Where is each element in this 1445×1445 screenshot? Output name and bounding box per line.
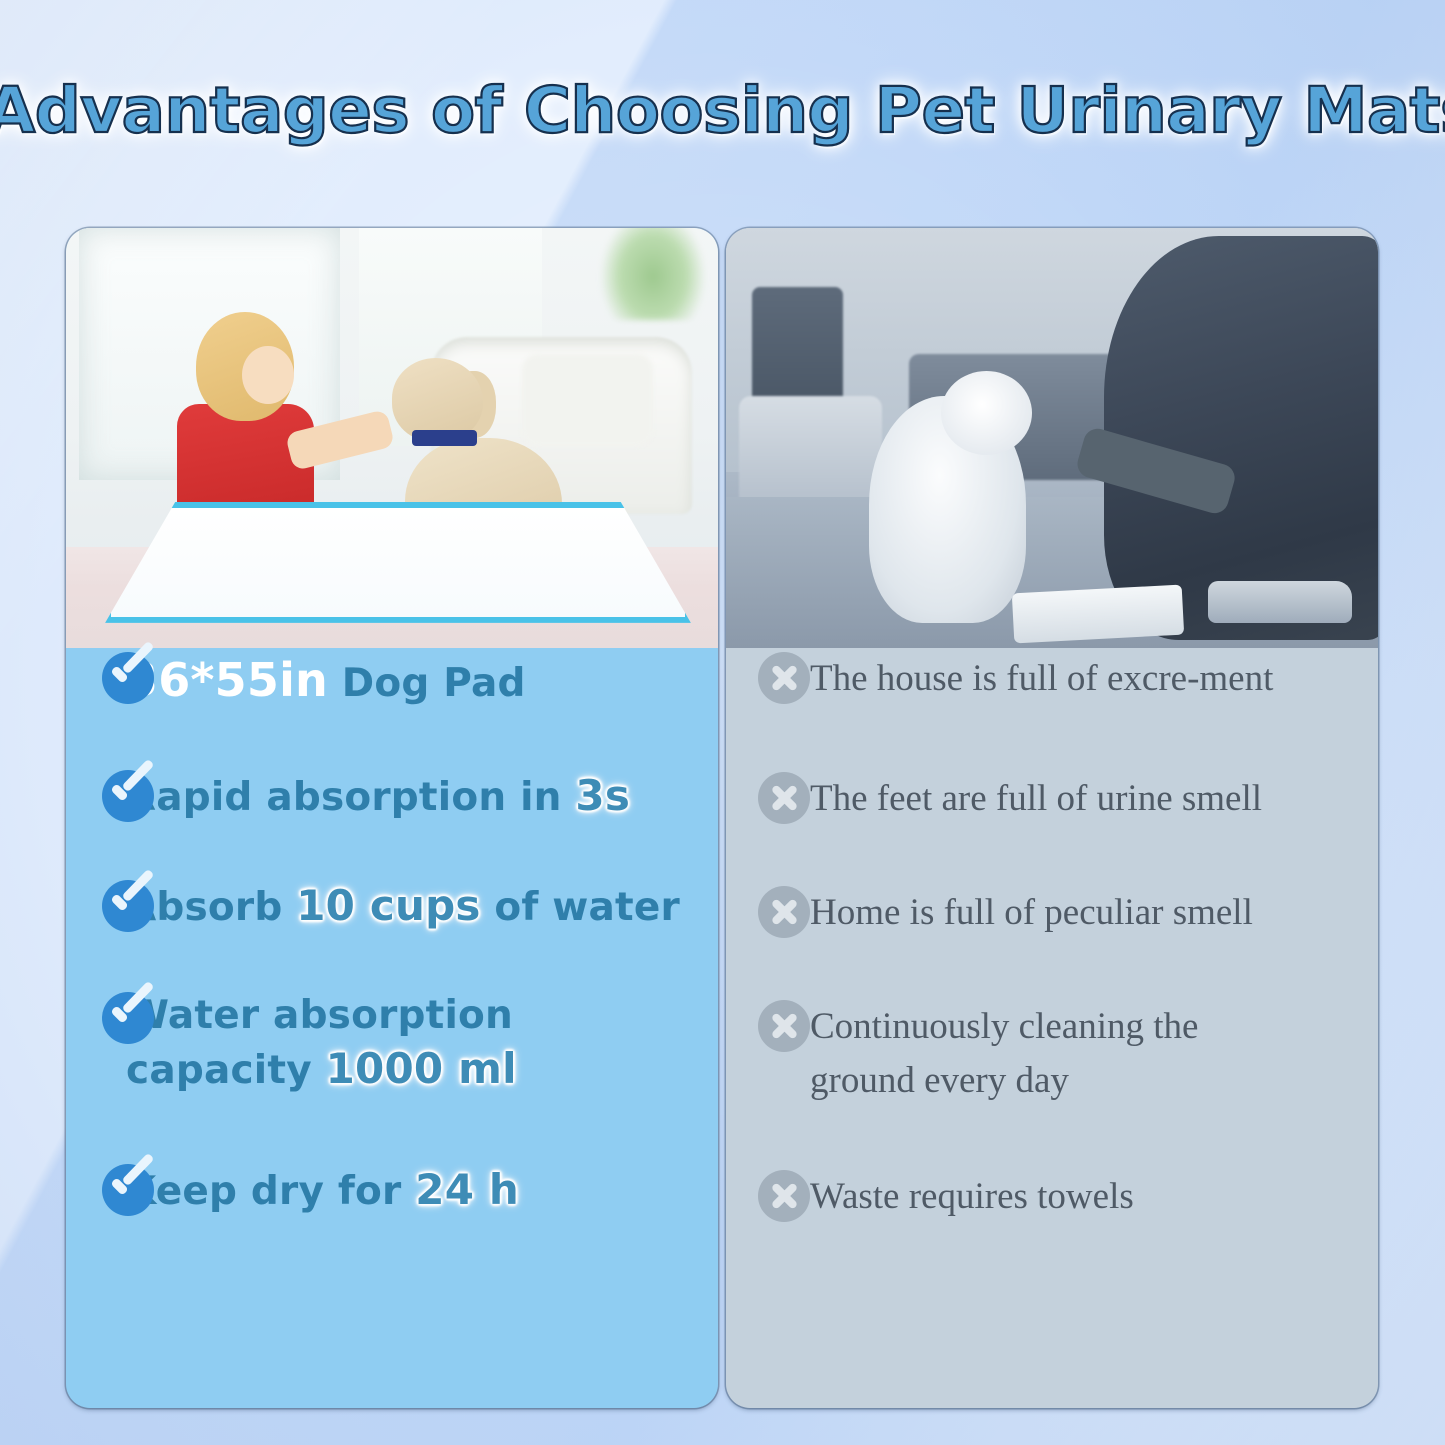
disadvantage-text-1: The house is full of excre-ment bbox=[756, 648, 1273, 706]
advantage-highlight-4: 1000 ml bbox=[326, 1044, 517, 1093]
list-item: The feet are full of urine smell bbox=[726, 768, 1378, 826]
list-item: 36*55in Dog Pad bbox=[66, 648, 718, 711]
advantages-list: 36*55in Dog Pad Rapid absorption in 3s A… bbox=[66, 648, 718, 1408]
list-item: Water absorption capacity 1000 ml bbox=[66, 988, 718, 1097]
advantage-text-2: Rapid absorption in 3s bbox=[100, 766, 630, 823]
advantage-prefix-5: Keep dry for bbox=[126, 1169, 415, 1214]
advantages-panel: 36*55in Dog Pad Rapid absorption in 3s A… bbox=[66, 228, 718, 1408]
disadvantages-panel: The house is full of excre-ment The feet… bbox=[726, 228, 1378, 1408]
photo-child-with-puppy bbox=[66, 228, 718, 648]
advantage-line2-4: capacity bbox=[126, 1048, 326, 1093]
infographic-canvas: Advantages of Choosing Pet Urinary Mats … bbox=[0, 0, 1445, 1445]
disadvantage-text-3: Home is full of peculiar smell bbox=[756, 882, 1253, 940]
list-item: The house is full of excre-ment bbox=[726, 648, 1378, 706]
advantage-highlight-5: 24 h bbox=[415, 1165, 519, 1214]
advantage-highlight-3: 10 cups bbox=[296, 881, 480, 930]
advantage-suffix-3: of water bbox=[481, 885, 680, 930]
advantage-highlight-2: 3s bbox=[575, 771, 630, 820]
advantage-line1-4: Water absorption bbox=[126, 993, 513, 1038]
advantage-suffix-1: Dog Pad bbox=[328, 661, 526, 706]
disadvantage-line1-4: Continuously cleaning the bbox=[810, 1006, 1198, 1047]
photo-woman-cleaning-floor bbox=[726, 228, 1378, 648]
advantage-text-4: Water absorption capacity 1000 ml bbox=[100, 988, 517, 1097]
towel-illustration bbox=[1012, 585, 1184, 644]
list-item: Rapid absorption in 3s bbox=[66, 766, 718, 823]
list-item: Keep dry for 24 h bbox=[66, 1160, 718, 1217]
advantage-prefix-2: Rapid absorption in bbox=[126, 775, 575, 820]
advantage-text-1: 36*55in Dog Pad bbox=[100, 648, 526, 711]
disadvantage-text-2: The feet are full of urine smell bbox=[756, 768, 1262, 826]
disadvantages-list: The house is full of excre-ment The feet… bbox=[726, 648, 1378, 1408]
disadvantage-line2-4: ground every day bbox=[810, 1060, 1069, 1101]
page-title: Advantages of Choosing Pet Urinary Mats bbox=[0, 74, 1445, 147]
list-item: Continuously cleaning the ground every d… bbox=[726, 996, 1378, 1107]
pet-pad-illustration bbox=[105, 502, 691, 623]
disadvantage-text-4: Continuously cleaning the ground every d… bbox=[756, 996, 1198, 1107]
advantage-text-3: Absorb 10 cups of water bbox=[100, 876, 680, 933]
list-item: Absorb 10 cups of water bbox=[66, 876, 718, 933]
advantage-highlight-1: 36*55in bbox=[126, 653, 328, 707]
disadvantage-text-5: Waste requires towels bbox=[756, 1166, 1134, 1224]
advantage-text-5: Keep dry for 24 h bbox=[100, 1160, 519, 1217]
list-item: Home is full of peculiar smell bbox=[726, 882, 1378, 940]
list-item: Waste requires towels bbox=[726, 1166, 1378, 1224]
